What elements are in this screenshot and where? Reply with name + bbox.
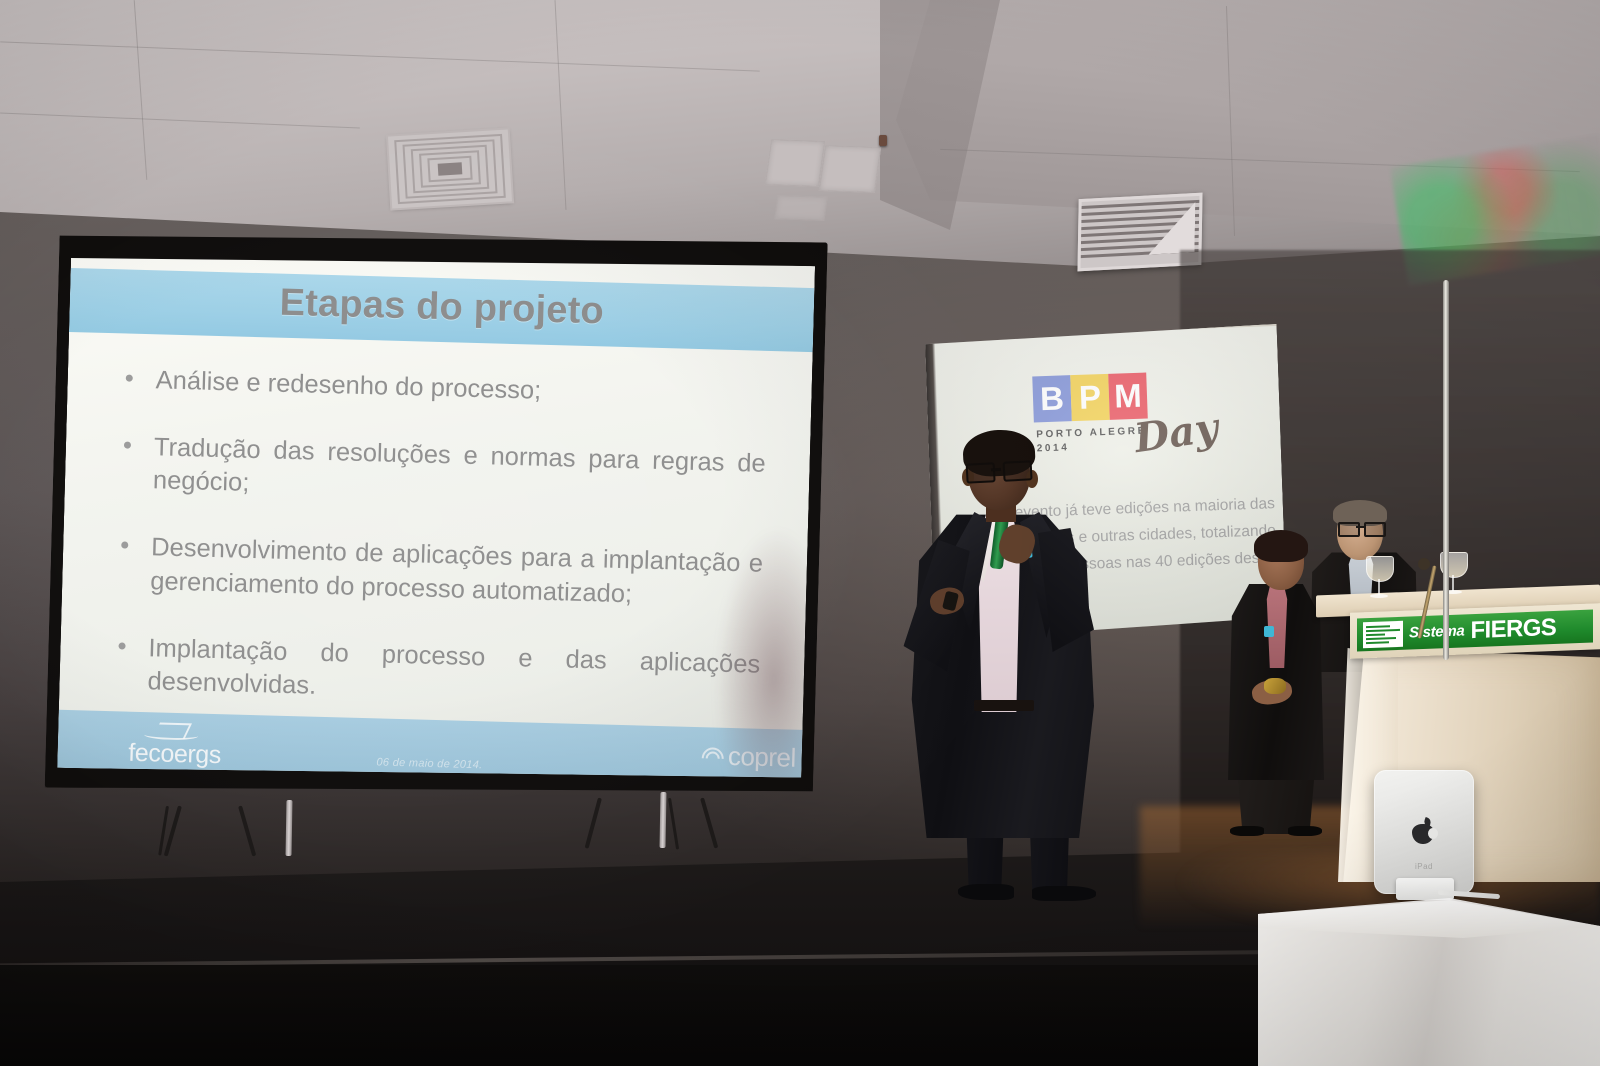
fecoergs-mark-icon <box>140 720 211 742</box>
tripod-pole <box>286 800 293 856</box>
attendee-held-object <box>1264 678 1286 694</box>
speaker-belt <box>974 700 1034 711</box>
presenter-shadow <box>687 515 814 788</box>
tripod-pole <box>660 792 667 848</box>
ipad-label: iPad <box>1402 862 1446 871</box>
fiergs-sistema-label: Sistema <box>1409 622 1464 641</box>
attendee-legs <box>1232 772 1320 834</box>
apple-logo-icon <box>1412 818 1434 844</box>
attendee-hair <box>1254 530 1308 562</box>
bullet-text: Análise e redesenho do processo; <box>155 366 541 404</box>
podium-sign-plate: Sistema FIERGS <box>1350 603 1600 659</box>
ceiling-air-diffuser-icon <box>388 130 512 209</box>
list-item: Implantação do processo e das aplicações… <box>105 631 761 715</box>
bullet-text: Implantação do processo e das aplicações… <box>147 634 760 700</box>
list-item: Tradução das resoluções e normas para re… <box>111 430 767 514</box>
list-item: Análise e redesenho do processo; <box>113 363 768 414</box>
speaker-glasses-icon <box>966 460 1033 479</box>
slide-surface: Etapas do projeto Análise e redesenho do… <box>57 246 815 788</box>
podium-microphone-head-icon <box>1418 558 1430 570</box>
ceiling-speaker-panel <box>819 145 881 193</box>
vertical-stand-pole <box>1443 280 1449 660</box>
bullet-dot-icon <box>124 442 131 449</box>
ipad-dock-stand <box>1396 878 1454 900</box>
speaker-shoe-right <box>1032 886 1096 901</box>
conference-photo-scene: Etapas do projeto Análise e redesenho do… <box>0 0 1600 1066</box>
attendee-shoe-left <box>1230 826 1264 836</box>
ceiling-speaker-panel <box>765 139 825 187</box>
bullet-text: Tradução das resoluções e normas para re… <box>153 433 766 497</box>
attendee-badge-icon <box>1264 626 1274 637</box>
fiergs-sign: Sistema FIERGS <box>1357 609 1593 651</box>
slide-bullet-list: Análise e redesenho do processo; Traduçã… <box>104 363 768 749</box>
bullet-dot-icon <box>121 542 128 549</box>
fiergs-emblem-icon <box>1363 620 1403 648</box>
fiergs-name-label: FIERGS <box>1470 613 1556 644</box>
host-glasses-icon <box>1338 522 1384 533</box>
list-item: Desenvolvimento de aplicações para a imp… <box>108 531 764 615</box>
ceiling-access-panel <box>774 195 827 221</box>
bullet-dot-icon <box>126 375 133 382</box>
wine-glass <box>1366 556 1392 600</box>
bullet-dot-icon <box>118 642 125 649</box>
main-projection-screen: Etapas do projeto Análise e redesenho do… <box>44 222 831 823</box>
bullet-text: Desenvolvimento de aplicações para a imp… <box>150 534 763 608</box>
speaker-shoe-left <box>958 884 1014 900</box>
ceiling-sprinkler-icon <box>879 135 887 146</box>
